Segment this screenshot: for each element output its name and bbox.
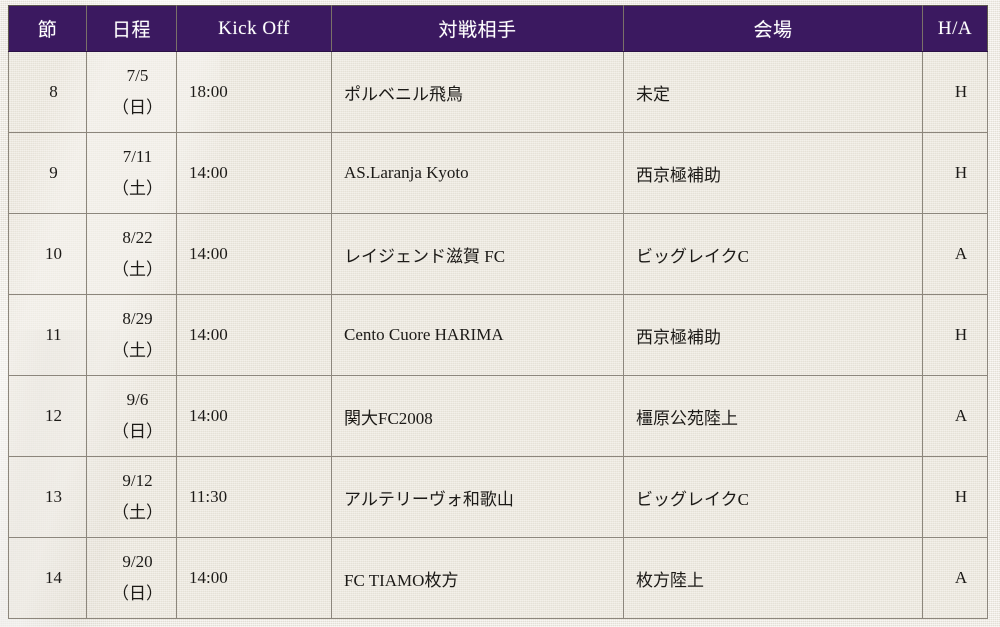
cell-date-day: 7/5: [99, 60, 176, 92]
cell-date-day: 7/11: [99, 141, 176, 173]
column-header-venue: 会場: [624, 6, 923, 52]
fixture-table-body: 8 7/5 （日） 18:00 ポルベニル飛鳥 未定 H 9 7/11 （土）: [9, 52, 988, 619]
table-row: 14 9/20 （日） 14:00 FC TIAMO枚方 枚方陸上 A: [9, 538, 988, 619]
cell-venue: ビッグレイクC: [624, 457, 923, 538]
cell-round: 14: [9, 538, 87, 619]
page-canvas: 節 日程 Kick Off 対戦相手 会場 H/A 8 7/5 （日） 18:0…: [0, 0, 1000, 627]
header-row: 節 日程 Kick Off 対戦相手 会場 H/A: [9, 6, 988, 52]
cell-homeaway: A: [923, 376, 988, 457]
cell-date-dow: （土）: [99, 497, 176, 529]
cell-round: 8: [9, 52, 87, 133]
cell-round: 12: [9, 376, 87, 457]
cell-date-day: 9/6: [99, 384, 176, 416]
table-row: 8 7/5 （日） 18:00 ポルベニル飛鳥 未定 H: [9, 52, 988, 133]
cell-date-dow: （土）: [99, 173, 176, 205]
cell-date: 9/6 （日）: [87, 376, 177, 457]
column-header-kickoff: Kick Off: [177, 6, 332, 52]
column-header-homeaway: H/A: [923, 6, 988, 52]
column-header-round: 節: [9, 6, 87, 52]
cell-homeaway: H: [923, 52, 988, 133]
cell-homeaway: H: [923, 133, 988, 214]
cell-date-day: 8/22: [99, 222, 176, 254]
cell-date-dow: （土）: [99, 254, 176, 286]
table-row: 9 7/11 （土） 14:00 AS.Laranja Kyoto 西京極補助 …: [9, 133, 988, 214]
cell-round: 11: [9, 295, 87, 376]
cell-opponent: Cento Cuore HARIMA: [332, 295, 624, 376]
fixture-table: 節 日程 Kick Off 対戦相手 会場 H/A 8 7/5 （日） 18:0…: [8, 5, 988, 619]
cell-opponent: 関大FC2008: [332, 376, 624, 457]
cell-opponent: FC TIAMO枚方: [332, 538, 624, 619]
cell-opponent: ポルベニル飛鳥: [332, 52, 624, 133]
cell-kickoff: 14:00: [177, 133, 332, 214]
cell-homeaway: H: [923, 295, 988, 376]
cell-kickoff: 14:00: [177, 214, 332, 295]
cell-date-day: 9/20: [99, 546, 176, 578]
cell-kickoff: 11:30: [177, 457, 332, 538]
table-row: 12 9/6 （日） 14:00 関大FC2008 橿原公苑陸上 A: [9, 376, 988, 457]
cell-homeaway: A: [923, 538, 988, 619]
cell-date-dow: （日）: [99, 92, 176, 124]
table-row: 13 9/12 （土） 11:30 アルテリーヴォ和歌山 ビッグレイクC H: [9, 457, 988, 538]
cell-venue: 枚方陸上: [624, 538, 923, 619]
table-row: 11 8/29 （土） 14:00 Cento Cuore HARIMA 西京極…: [9, 295, 988, 376]
cell-round: 10: [9, 214, 87, 295]
cell-venue: 橿原公苑陸上: [624, 376, 923, 457]
cell-opponent: AS.Laranja Kyoto: [332, 133, 624, 214]
cell-round: 13: [9, 457, 87, 538]
fixture-table-container: 節 日程 Kick Off 対戦相手 会場 H/A 8 7/5 （日） 18:0…: [8, 5, 987, 619]
cell-kickoff: 14:00: [177, 538, 332, 619]
cell-date: 9/12 （土）: [87, 457, 177, 538]
cell-date-dow: （日）: [99, 416, 176, 448]
table-row: 10 8/22 （土） 14:00 レイジェンド滋賀 FC ビッグレイクC A: [9, 214, 988, 295]
cell-homeaway: A: [923, 214, 988, 295]
cell-venue: 西京極補助: [624, 133, 923, 214]
cell-venue: 未定: [624, 52, 923, 133]
cell-kickoff: 18:00: [177, 52, 332, 133]
cell-opponent: レイジェンド滋賀 FC: [332, 214, 624, 295]
cell-venue: 西京極補助: [624, 295, 923, 376]
cell-kickoff: 14:00: [177, 376, 332, 457]
cell-date-dow: （日）: [99, 578, 176, 610]
cell-date: 8/29 （土）: [87, 295, 177, 376]
cell-round: 9: [9, 133, 87, 214]
cell-homeaway: H: [923, 457, 988, 538]
cell-date-day: 8/29: [99, 303, 176, 335]
cell-date: 7/11 （土）: [87, 133, 177, 214]
cell-kickoff: 14:00: [177, 295, 332, 376]
cell-date: 8/22 （土）: [87, 214, 177, 295]
column-header-opponent: 対戦相手: [332, 6, 624, 52]
cell-date-dow: （土）: [99, 335, 176, 367]
column-header-date: 日程: [87, 6, 177, 52]
cell-date-day: 9/12: [99, 465, 176, 497]
fixture-table-head: 節 日程 Kick Off 対戦相手 会場 H/A: [9, 6, 988, 52]
cell-date: 7/5 （日）: [87, 52, 177, 133]
cell-date: 9/20 （日）: [87, 538, 177, 619]
cell-venue: ビッグレイクC: [624, 214, 923, 295]
cell-opponent: アルテリーヴォ和歌山: [332, 457, 624, 538]
